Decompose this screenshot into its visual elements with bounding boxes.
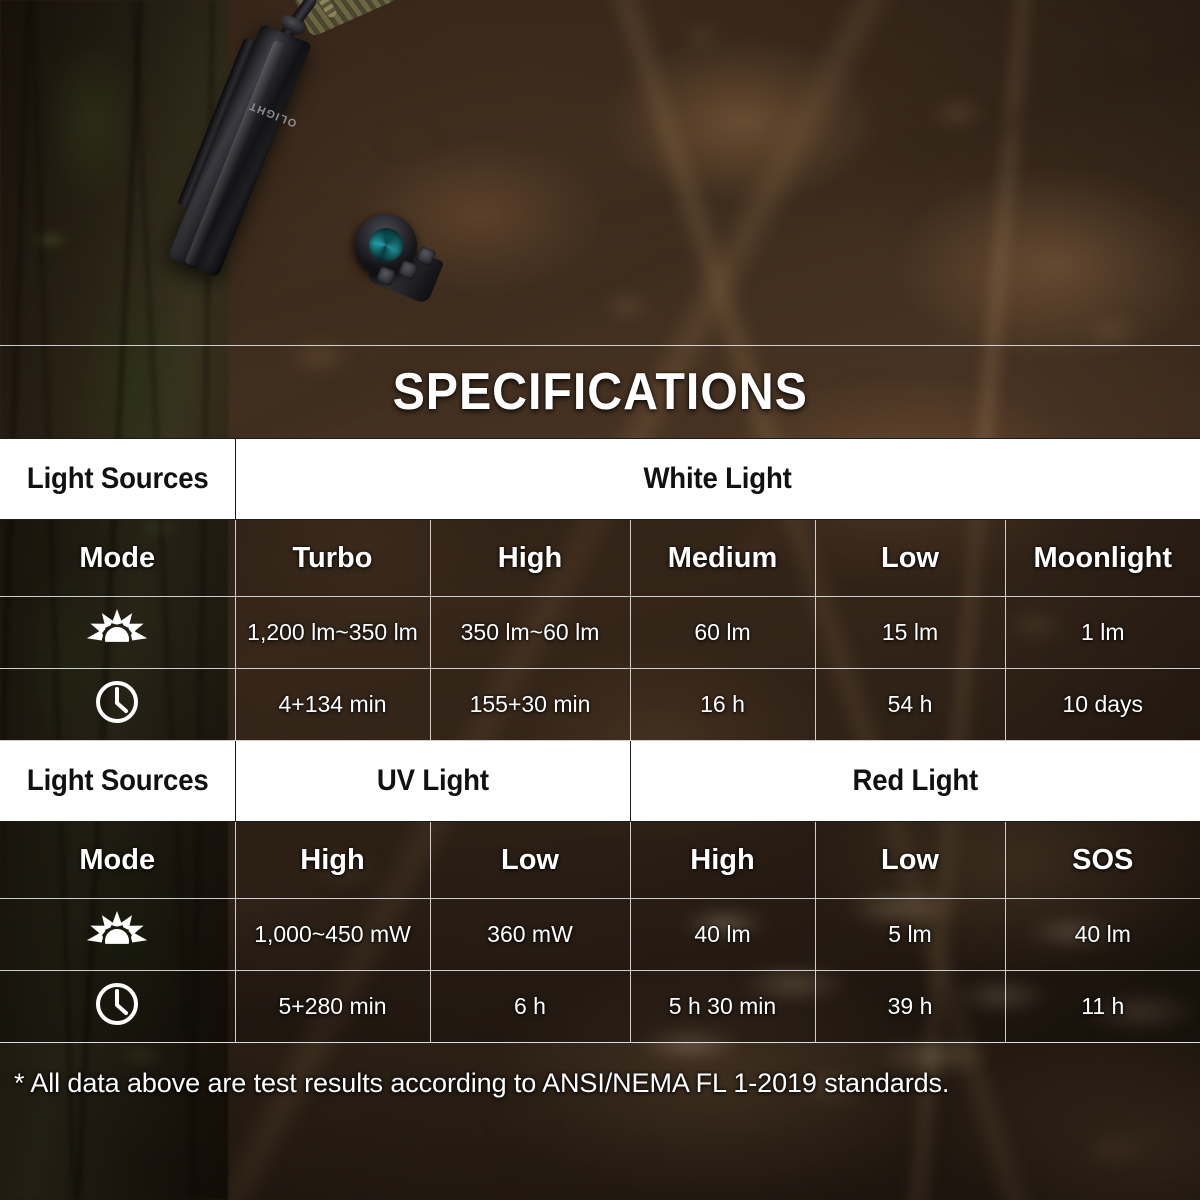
cell-runtime-uv-low: 6 h [430, 971, 630, 1043]
cell-mode-label: Mode [0, 520, 235, 597]
cell-output-red-high: 40 lm [630, 899, 815, 971]
cell-runtime-icon-2 [0, 971, 235, 1043]
flashlight-product-image: OLIGHT [200, 0, 520, 330]
lens-glass [364, 223, 408, 267]
cell-output-red-low: 5 lm [815, 899, 1005, 971]
sunburst-icon [86, 609, 148, 657]
cell-mode-high: High [430, 520, 630, 597]
specifications-title-band: SPECIFICATIONS [0, 346, 1200, 438]
cell-mode-label-2: Mode [0, 822, 235, 899]
cell-uv-light: UV Light [235, 741, 630, 822]
cell-runtime-red-high: 5 h 30 min [630, 971, 815, 1043]
cell-output-low: 15 lm [815, 597, 1005, 669]
cell-mode-uv-high: High [235, 822, 430, 899]
specifications-table: Light Sources White Light Mode Turbo Hig… [0, 438, 1200, 1043]
cell-mode-turbo: Turbo [235, 520, 430, 597]
cell-output-uv-low: 360 mW [430, 899, 630, 971]
footnote-text: * All data above are test results accord… [0, 1043, 1200, 1123]
cell-runtime-red-low: 39 h [815, 971, 1005, 1043]
cell-output-moonlight: 1 lm [1005, 597, 1200, 669]
sunburst-icon [86, 911, 148, 959]
cell-output-medium: 60 lm [630, 597, 815, 669]
table-row-light-sources-uv-red: Light Sources UV Light Red Light [0, 741, 1200, 822]
cell-brightness-icon-2 [0, 899, 235, 971]
cell-runtime-uv-high: 5+280 min [235, 971, 430, 1043]
cell-output-turbo: 1,200 lm~350 lm [235, 597, 430, 669]
cell-mode-low: Low [815, 520, 1005, 597]
cell-runtime-medium: 16 h [630, 669, 815, 741]
cell-runtime-moonlight: 10 days [1005, 669, 1200, 741]
cell-runtime-high: 155+30 min [430, 669, 630, 741]
cell-mode-uv-low: Low [430, 822, 630, 899]
table-row-runtime-white: 4+134 min 155+30 min 16 h 54 h 10 days [0, 669, 1200, 741]
clock-icon [94, 679, 140, 731]
cell-mode-red-sos: SOS [1005, 822, 1200, 899]
page-title: SPECIFICATIONS [392, 362, 807, 422]
cell-brightness-icon [0, 597, 235, 669]
cell-output-red-sos: 40 lm [1005, 899, 1200, 971]
table-row-mode-white: Mode Turbo High Medium Low Moonlight [0, 520, 1200, 597]
cell-runtime-red-sos: 11 h [1005, 971, 1200, 1043]
specifications-panel: SPECIFICATIONS Light Sources White Light… [0, 345, 1200, 1043]
table-row-mode-uv-red: Mode High Low High Low SOS [0, 822, 1200, 899]
table-row-light-sources-white: Light Sources White Light [0, 439, 1200, 520]
cell-runtime-turbo: 4+134 min [235, 669, 430, 741]
cell-white-light: White Light [235, 439, 1200, 520]
cell-mode-moonlight: Moonlight [1005, 520, 1200, 597]
table-row-output-white: 1,200 lm~350 lm 350 lm~60 lm 60 lm 15 lm… [0, 597, 1200, 669]
clock-icon [94, 981, 140, 1033]
cell-mode-medium: Medium [630, 520, 815, 597]
cell-output-high: 350 lm~60 lm [430, 597, 630, 669]
cell-output-uv-high: 1,000~450 mW [235, 899, 430, 971]
cell-runtime-low: 54 h [815, 669, 1005, 741]
cell-red-light: Red Light [630, 741, 1200, 822]
cell-runtime-icon [0, 669, 235, 741]
table-row-runtime-uv-red: 5+280 min 6 h 5 h 30 min 39 h 11 h [0, 971, 1200, 1043]
cell-mode-red-low: Low [815, 822, 1005, 899]
table-row-output-uv-red: 1,000~450 mW 360 mW 40 lm 5 lm 40 lm [0, 899, 1200, 971]
cell-light-sources-label: Light Sources [0, 439, 235, 520]
cell-mode-red-high: High [630, 822, 815, 899]
cell-light-sources-label-2: Light Sources [0, 741, 235, 822]
